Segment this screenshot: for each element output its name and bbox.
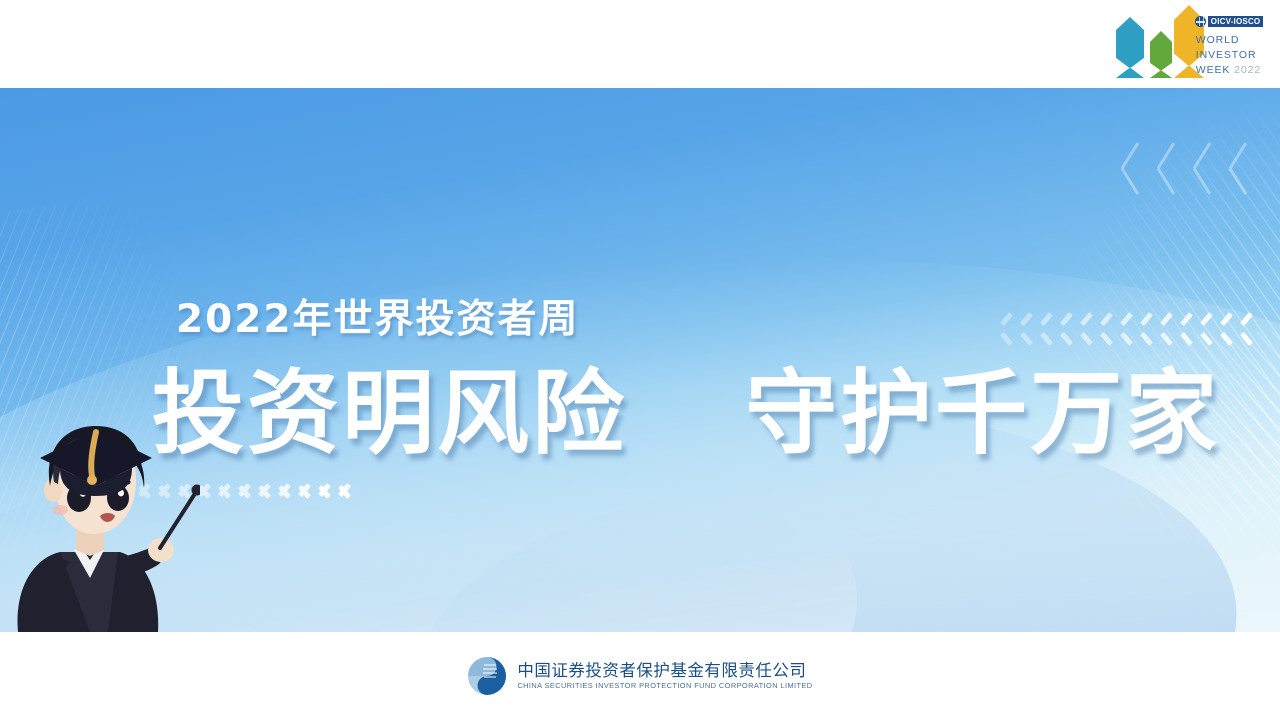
iosco-badge: OICV-IOSCO [1195,16,1264,27]
large-chevron-icon [1194,143,1224,241]
chevron-row-left-pointing [1000,316,1260,342]
wiw-line-world: WORLD [1196,34,1240,46]
chevron-icon [1180,316,1193,342]
banner-subtitle: 2022年世界投资者周 [176,300,580,339]
chevron-icon [218,478,231,504]
background-wave-teal [107,463,1032,632]
banner-headline: 投资明风险 守护千万家 [152,366,1220,463]
pencil-blue-body [1116,30,1144,78]
chevron-icon [1140,316,1153,342]
graduate-student-mascot [0,402,200,632]
wiw-line-investor: INVESTOR [1196,49,1257,61]
chevron-icon [318,478,331,504]
chevron-icon [238,478,251,504]
company-name-en: CHINA SECURITIES INVESTOR PROTECTION FUN… [517,681,812,691]
chevron-icon [1160,316,1173,342]
chevron-icon [1200,316,1213,342]
pencil-blue-notch [1116,58,1144,78]
diagonal-line-fan-right [1070,108,1280,538]
pencil-green-notch [1150,63,1172,78]
wiw-week-label: WEEK [1196,64,1231,76]
chevron-icon [1080,316,1093,342]
chevron-icon [1020,316,1033,342]
footer-bar: 中国证券投资者保护基金有限责任公司 CHINA SECURITIES INVES… [0,632,1280,719]
company-name-cn: 中国证券投资者保护基金有限责任公司 [517,661,812,680]
chevron-icon [1060,316,1073,342]
chevron-icon [1120,316,1133,342]
chevron-icon [1000,316,1013,342]
wiw-text-column: OICV-IOSCO WORLD INVESTOR WEEK 2022 [1195,8,1266,84]
pencil-blue-icon [1116,17,1144,78]
chevron-icon [1240,316,1253,342]
pencil-green-icon [1150,31,1172,78]
top-white-strip: OICV-IOSCO WORLD INVESTOR WEEK 2022 [0,0,1280,88]
chevron-icon [258,478,271,504]
wiw-line-week: WEEK 2022 [1196,64,1261,76]
iosco-label: OICV-IOSCO [1208,16,1264,27]
cisp-fund-logo: 中国证券投资者保护基金有限责任公司 CHINA SECURITIES INVES… [467,656,812,696]
pencil-blue-tip [1116,17,1144,30]
chevron-icon [1040,316,1053,342]
large-chevron-icon [1122,143,1152,241]
wiw-pencils-icon [1112,12,1195,84]
large-chevron-icon [1230,143,1260,241]
pencil-green-tip [1150,31,1172,42]
chevron-icon [278,478,291,504]
headline-part-2: 守护千万家 [745,360,1220,467]
headline-part-1: 投资明风险 [152,360,627,467]
footer-text-block: 中国证券投资者保护基金有限责任公司 CHINA SECURITIES INVES… [517,661,812,691]
cisp-fund-circular-logo-icon [467,656,507,696]
iosco-globe-icon [1195,16,1206,27]
chevron-icon [1100,316,1113,342]
chevron-icon [1220,316,1233,342]
wiw-year-label: 2022 [1234,64,1261,76]
main-banner: 2022年世界投资者周 投资明风险 守护千万家 [0,88,1280,632]
chevron-icon [338,478,351,504]
large-chevron-icon [1158,143,1188,241]
world-investor-week-logo: OICV-IOSCO WORLD INVESTOR WEEK 2022 [1106,4,1266,84]
pencil-green-body [1150,42,1172,78]
large-outline-chevrons [1122,143,1260,241]
chevron-icon [298,478,311,504]
